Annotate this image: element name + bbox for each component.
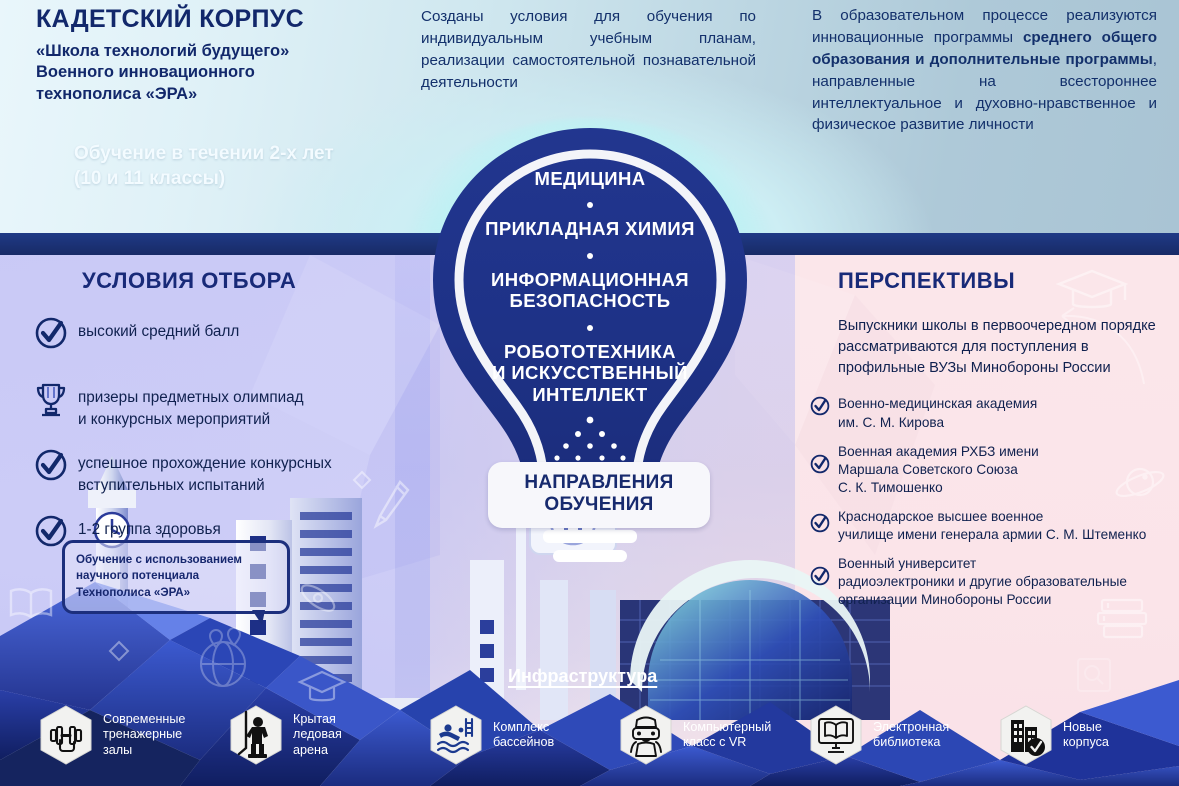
list-item-label: призеры предметных олимпиад и конкурсных…: [78, 384, 420, 430]
header-middle-text: Созданы условия для обучения по индивиду…: [421, 6, 756, 94]
list-item: Краснодарское высшее военное училище име…: [838, 508, 1173, 544]
prospects-lead-text: Выпускники школы в первоочередном порядк…: [838, 316, 1173, 379]
atom-icon: [296, 576, 340, 620]
prospects-heading: ПЕРСПЕКТИВЫ: [838, 268, 1173, 294]
infrastructure-label: Новые корпуса: [1063, 720, 1109, 751]
list-item-label: Краснодарское высшее военное училище име…: [838, 508, 1173, 544]
check-circle-icon: [810, 513, 830, 533]
infrastructure-label: Крытая ледовая арена: [293, 712, 342, 758]
technopolis-callout: Обучение с использованием научного потен…: [62, 540, 290, 614]
check-circle-icon: [34, 448, 68, 482]
list-item-label: высокий средний балл: [78, 318, 420, 343]
infrastructure-item: Электронная библиотека: [808, 704, 949, 766]
infrastructure-item: Компьютерный класс с VR: [618, 704, 771, 766]
directions-label: НАПРАВЛЕНИЯ ОБУЧЕНИЯ: [496, 472, 702, 517]
check-circle-icon: [34, 514, 68, 548]
infrastructure-item: Комплекс бассейнов: [428, 704, 554, 766]
check-circle-icon: [810, 454, 830, 474]
ebook-icon: [808, 704, 864, 766]
bulb-content: МЕДИЦИНА ПРИКЛАДНАЯ ХИМИЯ ИНФОРМАЦИОННАЯ…: [395, 128, 785, 558]
infrastructure-label: Электронная библиотека: [873, 720, 949, 751]
direction-item-3: РОБОТОТЕХНИКА И ИСКУССТВЕННЫЙ ИНТЕЛЛЕКТ: [395, 341, 785, 405]
infrastructure-title: Инфраструктура: [508, 666, 657, 687]
check-circle-icon: [34, 316, 68, 350]
bullet-dot: [395, 319, 785, 334]
infrastructure-label: Компьютерный класс с VR: [683, 720, 771, 751]
infrastructure-label: Комплекс бассейнов: [493, 720, 554, 751]
infrastructure-label: Современные тренажерные залы: [103, 712, 185, 758]
book-open-icon: [8, 586, 54, 620]
diamond-icon: [108, 640, 130, 662]
search-square-icon: [1075, 656, 1113, 694]
hockey-icon: [228, 704, 284, 766]
dumbbell-icon: [38, 704, 94, 766]
list-item: Военно-медицинская академия им. С. М. Ки…: [838, 395, 1173, 431]
list-item-label: Военный университет радиоэлектроники и д…: [838, 555, 1173, 609]
check-circle-icon: [810, 396, 830, 416]
directions-label-box: НАПРАВЛЕНИЯ ОБУЧЕНИЯ: [488, 462, 710, 528]
list-item-label: 1-2 группа здоровья: [78, 516, 420, 541]
list-item-label: успешное прохождение конкурсных вступите…: [78, 450, 420, 496]
infrastructure-item: Современные тренажерные залы: [38, 704, 185, 766]
list-item-label: Военно-медицинская академия им. С. М. Ки…: [838, 395, 1173, 431]
prospects-section: ПЕРСПЕКТИВЫ Выпускники школы в первоочер…: [838, 268, 1173, 620]
selection-criteria-list: высокий средний балл: [30, 318, 420, 564]
technopolis-callout-text: Обучение с использованием научного потен…: [76, 553, 242, 599]
direction-item-0: МЕДИЦИНА: [395, 168, 785, 189]
list-item-label: Военная академия РХБЗ имени Маршала Сове…: [838, 443, 1173, 497]
selection-heading: УСЛОВИЯ ОТБОРА: [30, 268, 420, 294]
vr-headset-icon: [618, 704, 674, 766]
list-item: призеры предметных олимпиад и конкурсных…: [30, 384, 420, 432]
header-right-text: В образовательном процессе реализуются и…: [812, 5, 1157, 136]
trophy-icon: [34, 382, 68, 416]
list-item: успешное прохождение конкурсных вступите…: [30, 450, 420, 498]
direction-item-2: ИНФОРМАЦИОННАЯ БЕЗОПАСНОСТЬ: [395, 269, 785, 312]
bullet-dot: [395, 247, 785, 262]
universities-list: Военно-медицинская академия им. С. М. Ки…: [838, 395, 1173, 609]
page-subtitle: «Школа технологий будущего» Военного инн…: [36, 41, 396, 106]
list-item: Военная академия РХБЗ имени Маршала Сове…: [838, 443, 1173, 497]
building-check-icon: [998, 704, 1054, 766]
direction-item-1: ПРИКЛАДНАЯ ХИМИЯ: [395, 218, 785, 239]
directions-list: МЕДИЦИНА ПРИКЛАДНАЯ ХИМИЯ ИНФОРМАЦИОННАЯ…: [395, 168, 785, 405]
check-circle-icon: [810, 566, 830, 586]
bullet-dot: [395, 196, 785, 211]
list-item: высокий средний балл: [30, 318, 420, 366]
selection-conditions-section: УСЛОВИЯ ОТБОРА высокий средний балл: [30, 268, 420, 582]
globe-pin-icon: [188, 620, 258, 692]
infographic-root: КАДЕТСКИЙ КОРПУС «Школа технологий будущ…: [0, 0, 1179, 786]
infrastructure-item: Новые корпуса: [998, 704, 1109, 766]
infrastructure-items: Современные тренажерные залы: [0, 704, 1179, 786]
study-duration-text: Обучение в течении 2-х лет (10 и 11 клас…: [74, 142, 404, 191]
swimmer-icon: [428, 704, 484, 766]
infrastructure-item: Крытая ледовая арена: [228, 704, 342, 766]
header-left-block: КАДЕТСКИЙ КОРПУС «Школа технологий будущ…: [36, 6, 396, 106]
list-item: Военный университет радиоэлектроники и д…: [838, 555, 1173, 609]
page-title: КАДЕТСКИЙ КОРПУС: [36, 6, 396, 34]
